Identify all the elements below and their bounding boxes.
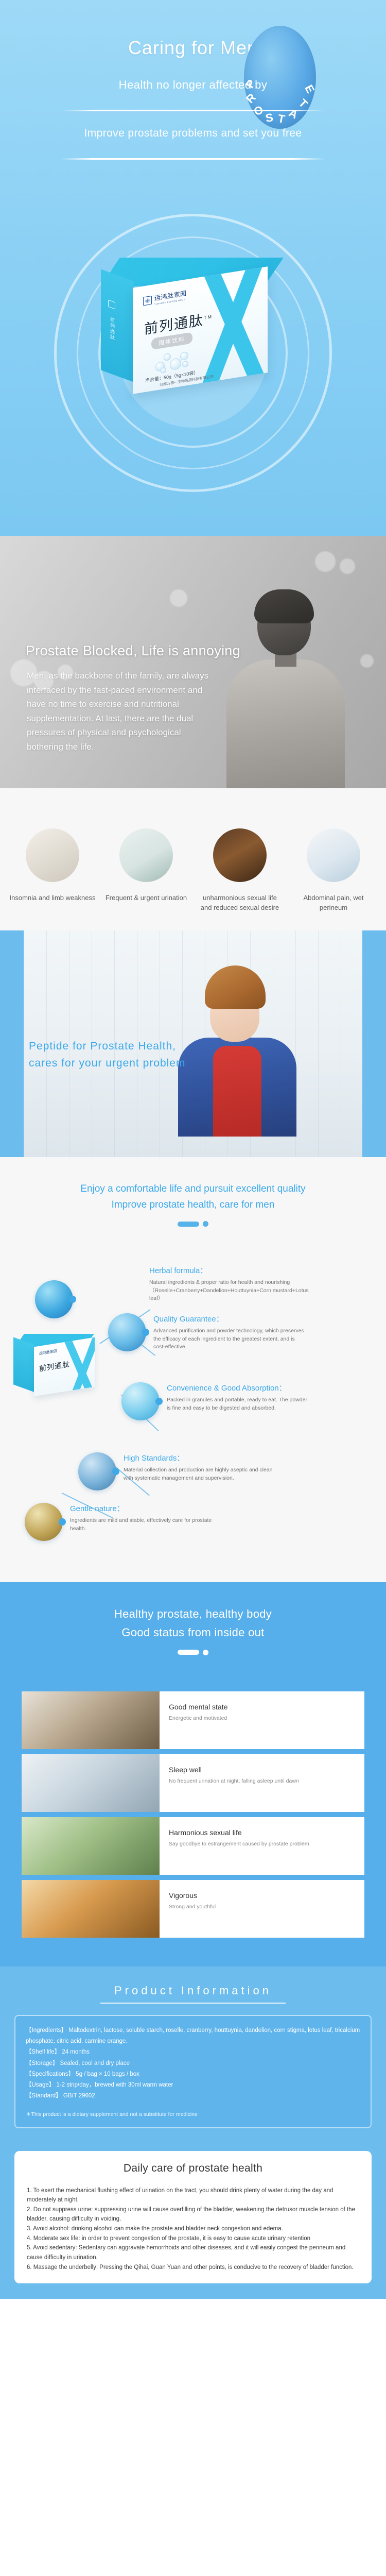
- info-line: 【Standard】 GB/T 29602: [26, 2091, 360, 2102]
- oval-letter: T: [277, 112, 286, 126]
- feature-desc: Ingredients are mild and stable, effecti…: [70, 1517, 224, 1533]
- info-key: 【Usage】: [26, 2082, 55, 2088]
- care-item: 5. Avoid sedentary: Sedentary can aggrav…: [27, 2243, 359, 2262]
- benefit-desc: Strong and youthful: [169, 1903, 216, 1911]
- care-item: 6. Massage the underbelly: Pressing the …: [27, 2263, 359, 2273]
- peptide-banner-section: Peptide for Prostate Health, cares for y…: [0, 930, 386, 1157]
- prostate-oval-badge: P R O S T A T E: [244, 26, 316, 129]
- care-item: 4. Moderate sex life: in order to preven…: [27, 2234, 359, 2244]
- hero-section: Caring for Men P R O S T A T E Health no…: [0, 0, 386, 536]
- info-value: GB/T 29602: [63, 2093, 95, 2099]
- peptide-banner-line1: Peptide for Prostate Health,: [29, 1038, 185, 1055]
- disclaimer-note: ＊This product is a dietary supplement an…: [26, 2110, 360, 2118]
- info-value: 24 months: [62, 2049, 90, 2055]
- lab-pipette-icon: [108, 1313, 146, 1351]
- peptide-banner-title: Peptide for Prostate Health, cares for y…: [29, 1038, 185, 1072]
- person-figure: [178, 965, 296, 1137]
- symptom-label: Insomnia and limb weakness: [9, 893, 96, 903]
- care-item: 2. Do not suppress urine: suppressing ur…: [27, 2205, 359, 2224]
- info-line: 【Shelf life】 24 months: [26, 2047, 360, 2058]
- box-spine-text: 前列通肽: [109, 316, 116, 342]
- herb-molecule-icon: [35, 1280, 73, 1318]
- brand-logo: ㊥ 运鸿肽家园 YUNHONG PEPTIDE HOME: [143, 289, 187, 307]
- feature-desc: Material collection and production are h…: [124, 1466, 278, 1483]
- info-value: 5g / bag × 10 bags / box: [76, 2071, 139, 2077]
- brand-mark-icon: [108, 299, 115, 309]
- problem-title: Prostate Blocked, Life is annoying: [26, 643, 240, 659]
- product-name-small: 前列通肽: [39, 1359, 70, 1375]
- benefit-desc: No frequent urination at night, falling …: [169, 1777, 299, 1786]
- info-value: 1-2 strip/day，brewed with 30ml warm wate…: [56, 2082, 173, 2088]
- benefit-title: Good mental state: [169, 1703, 227, 1711]
- info-key: 【Storage】: [26, 2060, 58, 2066]
- hero-subtitle: Health no longer affected by: [0, 78, 386, 92]
- feature-title: Quality Guarantee：: [153, 1314, 308, 1325]
- symptom-item: Insomnia and limb weakness: [9, 828, 96, 913]
- info-value: Sealed, cool and dry place: [60, 2060, 130, 2066]
- features-heading: Enjoy a comfortable life and pursuit exc…: [0, 1181, 386, 1213]
- benefit-card: Harmonious sexual life Say goodbye to es…: [22, 1817, 364, 1875]
- golden-grain-icon: [25, 1503, 63, 1541]
- symptom-item: unharmonious sexual life and reduced sex…: [197, 828, 283, 913]
- info-key: 【Ingredients】: [26, 2027, 67, 2033]
- feature-item-high-standards: High Standards： Material collection and …: [78, 1452, 278, 1490]
- symptoms-section: Insomnia and limb weakness Frequent & ur…: [0, 788, 386, 930]
- carousel-indicator[interactable]: [0, 1650, 386, 1655]
- info-key: 【Shelf life】: [26, 2049, 60, 2055]
- features-heading-line2: Improve prostate health, care for men: [0, 1197, 386, 1213]
- care-item: 3. Avoid alcohol: drinking alcohol can m…: [27, 2224, 359, 2234]
- brand-mark-icon: ㊥: [143, 296, 152, 306]
- x-graphic-icon: [198, 266, 268, 393]
- product-information-heading: Product Information: [0, 1984, 386, 1997]
- indicator-dot[interactable]: [203, 1650, 208, 1655]
- product-landing-page: Caring for Men P R O S T A T E Health no…: [0, 0, 386, 2299]
- benefit-title: Harmonious sexual life: [169, 1828, 309, 1837]
- feature-item-herbal-formula: Herbal formula： Natural ingredients & pr…: [149, 1265, 319, 1303]
- symptom-label: Frequent & urgent urination: [103, 893, 189, 903]
- healthy-heading-line2: Good status from inside out: [0, 1623, 386, 1641]
- worried-man-photo: [221, 582, 355, 788]
- care-item: 1. To exert the mechanical flushing effe…: [27, 2186, 359, 2205]
- feature-item-gentle-nature: Gentle nature： Ingredients are mild and …: [25, 1503, 224, 1541]
- info-key: 【Specifications】: [26, 2071, 74, 2077]
- symptom-label: unharmonious sexual life and reduced sex…: [197, 893, 283, 913]
- peptide-banner-line2: cares for your urgent problem: [29, 1055, 185, 1072]
- feature-item-quality-guarantee: Quality Guarantee： Advanced purification…: [108, 1313, 308, 1351]
- info-line: 【Specifications】 5g / bag × 10 bags / bo…: [26, 2069, 360, 2080]
- feature-title: Herbal formula：: [149, 1266, 319, 1276]
- feature-desc: Packed in granules and portable, ready t…: [167, 1396, 309, 1413]
- healthy-heading: Healthy prostate, healthy body Good stat…: [0, 1605, 386, 1641]
- symptom-item: Abdominal pain, wet perineum: [290, 828, 377, 913]
- features-diagram: 运鸿肽家园 前列通肽 Herbal formula： Natural ingre…: [0, 1242, 386, 1551]
- man-sleeping-photo: [22, 1754, 160, 1812]
- benefit-card: Vigorous Strong and youthful: [22, 1880, 364, 1938]
- indicator-active[interactable]: [178, 1650, 199, 1655]
- features-heading-line1: Enjoy a comfortable life and pursuit exc…: [0, 1181, 386, 1197]
- benefit-card: Good mental state Energetic and motivate…: [22, 1691, 364, 1749]
- daily-care-section: Daily care of prostate health 1. To exer…: [0, 2151, 386, 2299]
- product-information-panel: 【Ingredients】 Maltodextrin, lactose, sol…: [14, 2015, 372, 2128]
- healthy-heading-line1: Healthy prostate, healthy body: [0, 1605, 386, 1623]
- couple-apart-icon: [213, 828, 267, 882]
- daily-care-panel: Daily care of prostate health 1. To exer…: [14, 2151, 372, 2284]
- water-droplet-icon: [121, 1382, 160, 1420]
- brand-logo-small: 运鸿肽家园: [39, 1349, 57, 1357]
- problem-section: Prostate Blocked, Life is annoying Men, …: [0, 536, 386, 788]
- product-box-thumbnail: 运鸿肽家园 前列通肽: [13, 1334, 100, 1399]
- feature-title: Convenience & Good Absorption：: [167, 1383, 309, 1394]
- feature-desc: Advanced purification and powder technol…: [153, 1327, 308, 1351]
- man-running-sunset-photo: [22, 1880, 160, 1938]
- info-line: 【Usage】 1-2 strip/day，brewed with 30ml w…: [26, 2080, 360, 2091]
- feature-item-convenience-absorption: Convenience & Good Absorption： Packed in…: [121, 1382, 309, 1420]
- businessmen-meeting-photo: [22, 1691, 160, 1749]
- info-key: 【Standard】: [26, 2093, 62, 2099]
- indicator-dot[interactable]: [203, 1221, 208, 1227]
- man-holding-abdomen-icon: [307, 828, 360, 882]
- symptom-label: Abdominal pain, wet perineum: [290, 893, 377, 913]
- problem-copy: Men, as the backbone of the family, are …: [27, 669, 217, 754]
- man-sitting-head-in-hand-icon: [26, 828, 79, 882]
- man-at-urinal-icon: [119, 828, 173, 882]
- info-value: Maltodextrin, lactose, soluble starch, r…: [26, 2027, 360, 2044]
- feature-desc: Natural ingredients & proper ratio for h…: [149, 1279, 319, 1303]
- carousel-indicator[interactable]: [0, 1221, 386, 1227]
- oval-letter: S: [265, 111, 274, 125]
- daily-care-heading: Daily care of prostate health: [27, 2162, 359, 2186]
- benefit-cards-list: Good mental state Energetic and motivate…: [0, 1688, 386, 1967]
- benefit-card: Sleep well No frequent urination at nigh…: [22, 1754, 364, 1812]
- divider-top: [61, 110, 325, 111]
- feature-title: Gentle nature：: [70, 1504, 224, 1514]
- healthy-prostate-section: Healthy prostate, healthy body Good stat…: [0, 1582, 386, 1688]
- cleanroom-worker-icon: [78, 1452, 116, 1490]
- info-line: 【Storage】 Sealed, cool and dry place: [26, 2058, 360, 2069]
- page-title: Caring for Men: [0, 37, 386, 59]
- benefit-title: Sleep well: [169, 1766, 299, 1774]
- info-line: 【Ingredients】 Maltodextrin, lactose, sol…: [26, 2025, 360, 2047]
- couple-outdoors-photo: [22, 1817, 160, 1875]
- product-box-image: 前列通肽 ㊥ 运鸿肽家园 YUNHONG PEPTIDE HOME 前列通肽TM…: [101, 258, 296, 412]
- heading-underline: [100, 2003, 286, 2004]
- divider-bottom: [61, 158, 325, 160]
- symptom-item: Frequent & urgent urination: [103, 828, 189, 913]
- benefit-title: Vigorous: [169, 1891, 216, 1900]
- features-section: Enjoy a comfortable life and pursuit exc…: [0, 1157, 386, 1583]
- product-information-section: Product Information 【Ingredients】 Maltod…: [0, 1967, 386, 2151]
- indicator-active[interactable]: [178, 1222, 199, 1227]
- hero-tagline: Improve prostate problems and set you fr…: [0, 127, 386, 140]
- benefit-desc: Say goodbye to estrangement caused by pr…: [169, 1840, 309, 1849]
- benefit-desc: Energetic and motivated: [169, 1715, 227, 1723]
- feature-title: High Standards：: [124, 1453, 278, 1464]
